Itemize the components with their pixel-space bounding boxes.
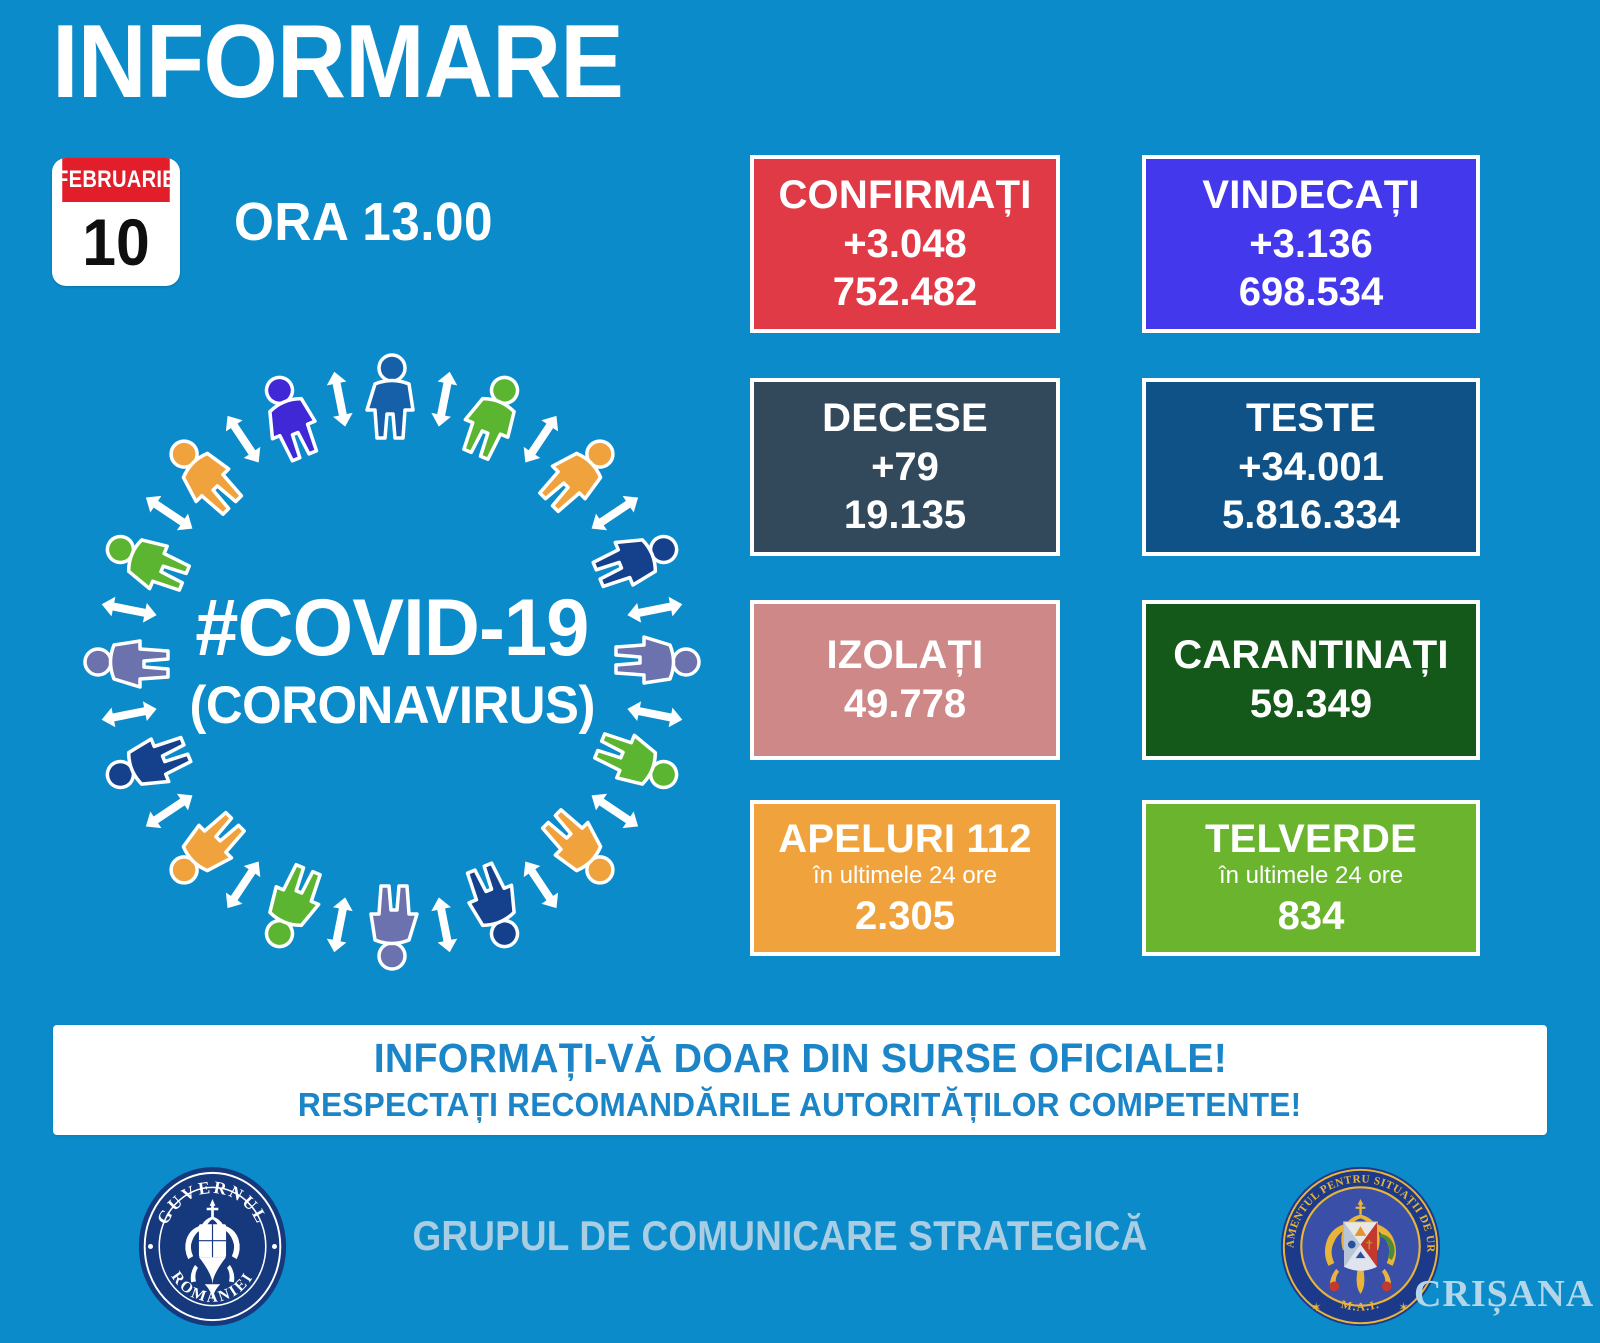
guvernul-romaniei-seal-icon: GUVERNUL ROMÂNIEI xyxy=(135,1164,290,1329)
advisory-line-1: INFORMAȚI-VĂ DOAR DIN SURSE OFICIALE! xyxy=(373,1036,1226,1081)
stat-total: 752.482 xyxy=(833,270,978,315)
stat-label: TESTE xyxy=(1246,396,1376,441)
advisory-line-2: RESPECTAȚI RECOMANDĂRILE AUTORITĂȚILOR C… xyxy=(298,1086,1301,1124)
stat-delta: +34.001 xyxy=(1238,445,1384,490)
stat-note: în ultimele 24 ore xyxy=(813,863,997,890)
stat-card-carantinati: CARANTINAȚI 59.349 xyxy=(1142,600,1480,760)
date-row: FEBRUARIE 10 ORA 13.00 xyxy=(52,158,507,286)
stat-total: 59.349 xyxy=(1250,682,1372,727)
stat-delta: +79 xyxy=(871,445,939,490)
stat-delta: +3.048 xyxy=(843,222,966,267)
stat-note: în ultimele 24 ore xyxy=(1219,863,1403,890)
page-title: INFORMARE xyxy=(52,8,623,117)
stat-card-telverde: TELVERDE în ultimele 24 ore 834 xyxy=(1142,800,1480,956)
stat-label: IZOLAȚI xyxy=(827,633,984,678)
covid-circle-graphic: #COVID-19 (CORONAVIRUS) xyxy=(62,332,722,992)
stat-label: DECESE xyxy=(822,396,988,441)
calendar-day: 10 xyxy=(57,202,175,286)
hour-label: ORA 13.00 xyxy=(234,191,493,253)
stat-card-teste: TESTE +34.001 5.816.334 xyxy=(1142,378,1480,556)
stat-card-vindecati: VINDECAȚI +3.136 698.534 xyxy=(1142,155,1480,333)
stat-label: APELURI 112 xyxy=(778,817,1031,862)
crisana-watermark: CRIȘANA xyxy=(1414,1272,1594,1316)
calendar-month: FEBRUARIE xyxy=(62,158,170,202)
people-circle-icon xyxy=(62,332,722,992)
stat-card-apeluri-112: APELURI 112 în ultimele 24 ore 2.305 xyxy=(750,800,1060,956)
footer: GUVERNUL ROMÂNIEI GRUPUL DE COMUNICARE S xyxy=(0,1150,1600,1343)
stat-total: 2.305 xyxy=(855,894,955,939)
stat-delta: +3.136 xyxy=(1249,222,1372,267)
stat-total: 698.534 xyxy=(1239,270,1384,315)
grupul-comunicare-strategica-label: GRUPUL DE COMUNICARE STRATEGICĂ xyxy=(384,1212,1176,1260)
stat-total: 19.135 xyxy=(844,493,966,538)
advisory-banner: INFORMAȚI-VĂ DOAR DIN SURSE OFICIALE! RE… xyxy=(53,1025,1547,1135)
svg-text:✶: ✶ xyxy=(1311,1301,1322,1315)
stat-total: 834 xyxy=(1278,894,1345,939)
stat-label: TELVERDE xyxy=(1205,817,1417,862)
svg-text:✶: ✶ xyxy=(1398,1301,1409,1315)
stat-card-decese: DECESE +79 19.135 xyxy=(750,378,1060,556)
stat-total: 49.778 xyxy=(844,682,966,727)
stat-card-izolati: IZOLAȚI 49.778 xyxy=(750,600,1060,760)
calendar-icon: FEBRUARIE 10 xyxy=(52,158,180,286)
stat-total: 5.816.334 xyxy=(1222,493,1400,538)
stat-label: CARANTINAȚI xyxy=(1173,633,1449,678)
stat-label: CONFIRMAȚI xyxy=(778,173,1031,218)
stat-card-confirmati: CONFIRMAȚI +3.048 752.482 xyxy=(750,155,1060,333)
stat-label: VINDECAȚI xyxy=(1202,173,1419,218)
